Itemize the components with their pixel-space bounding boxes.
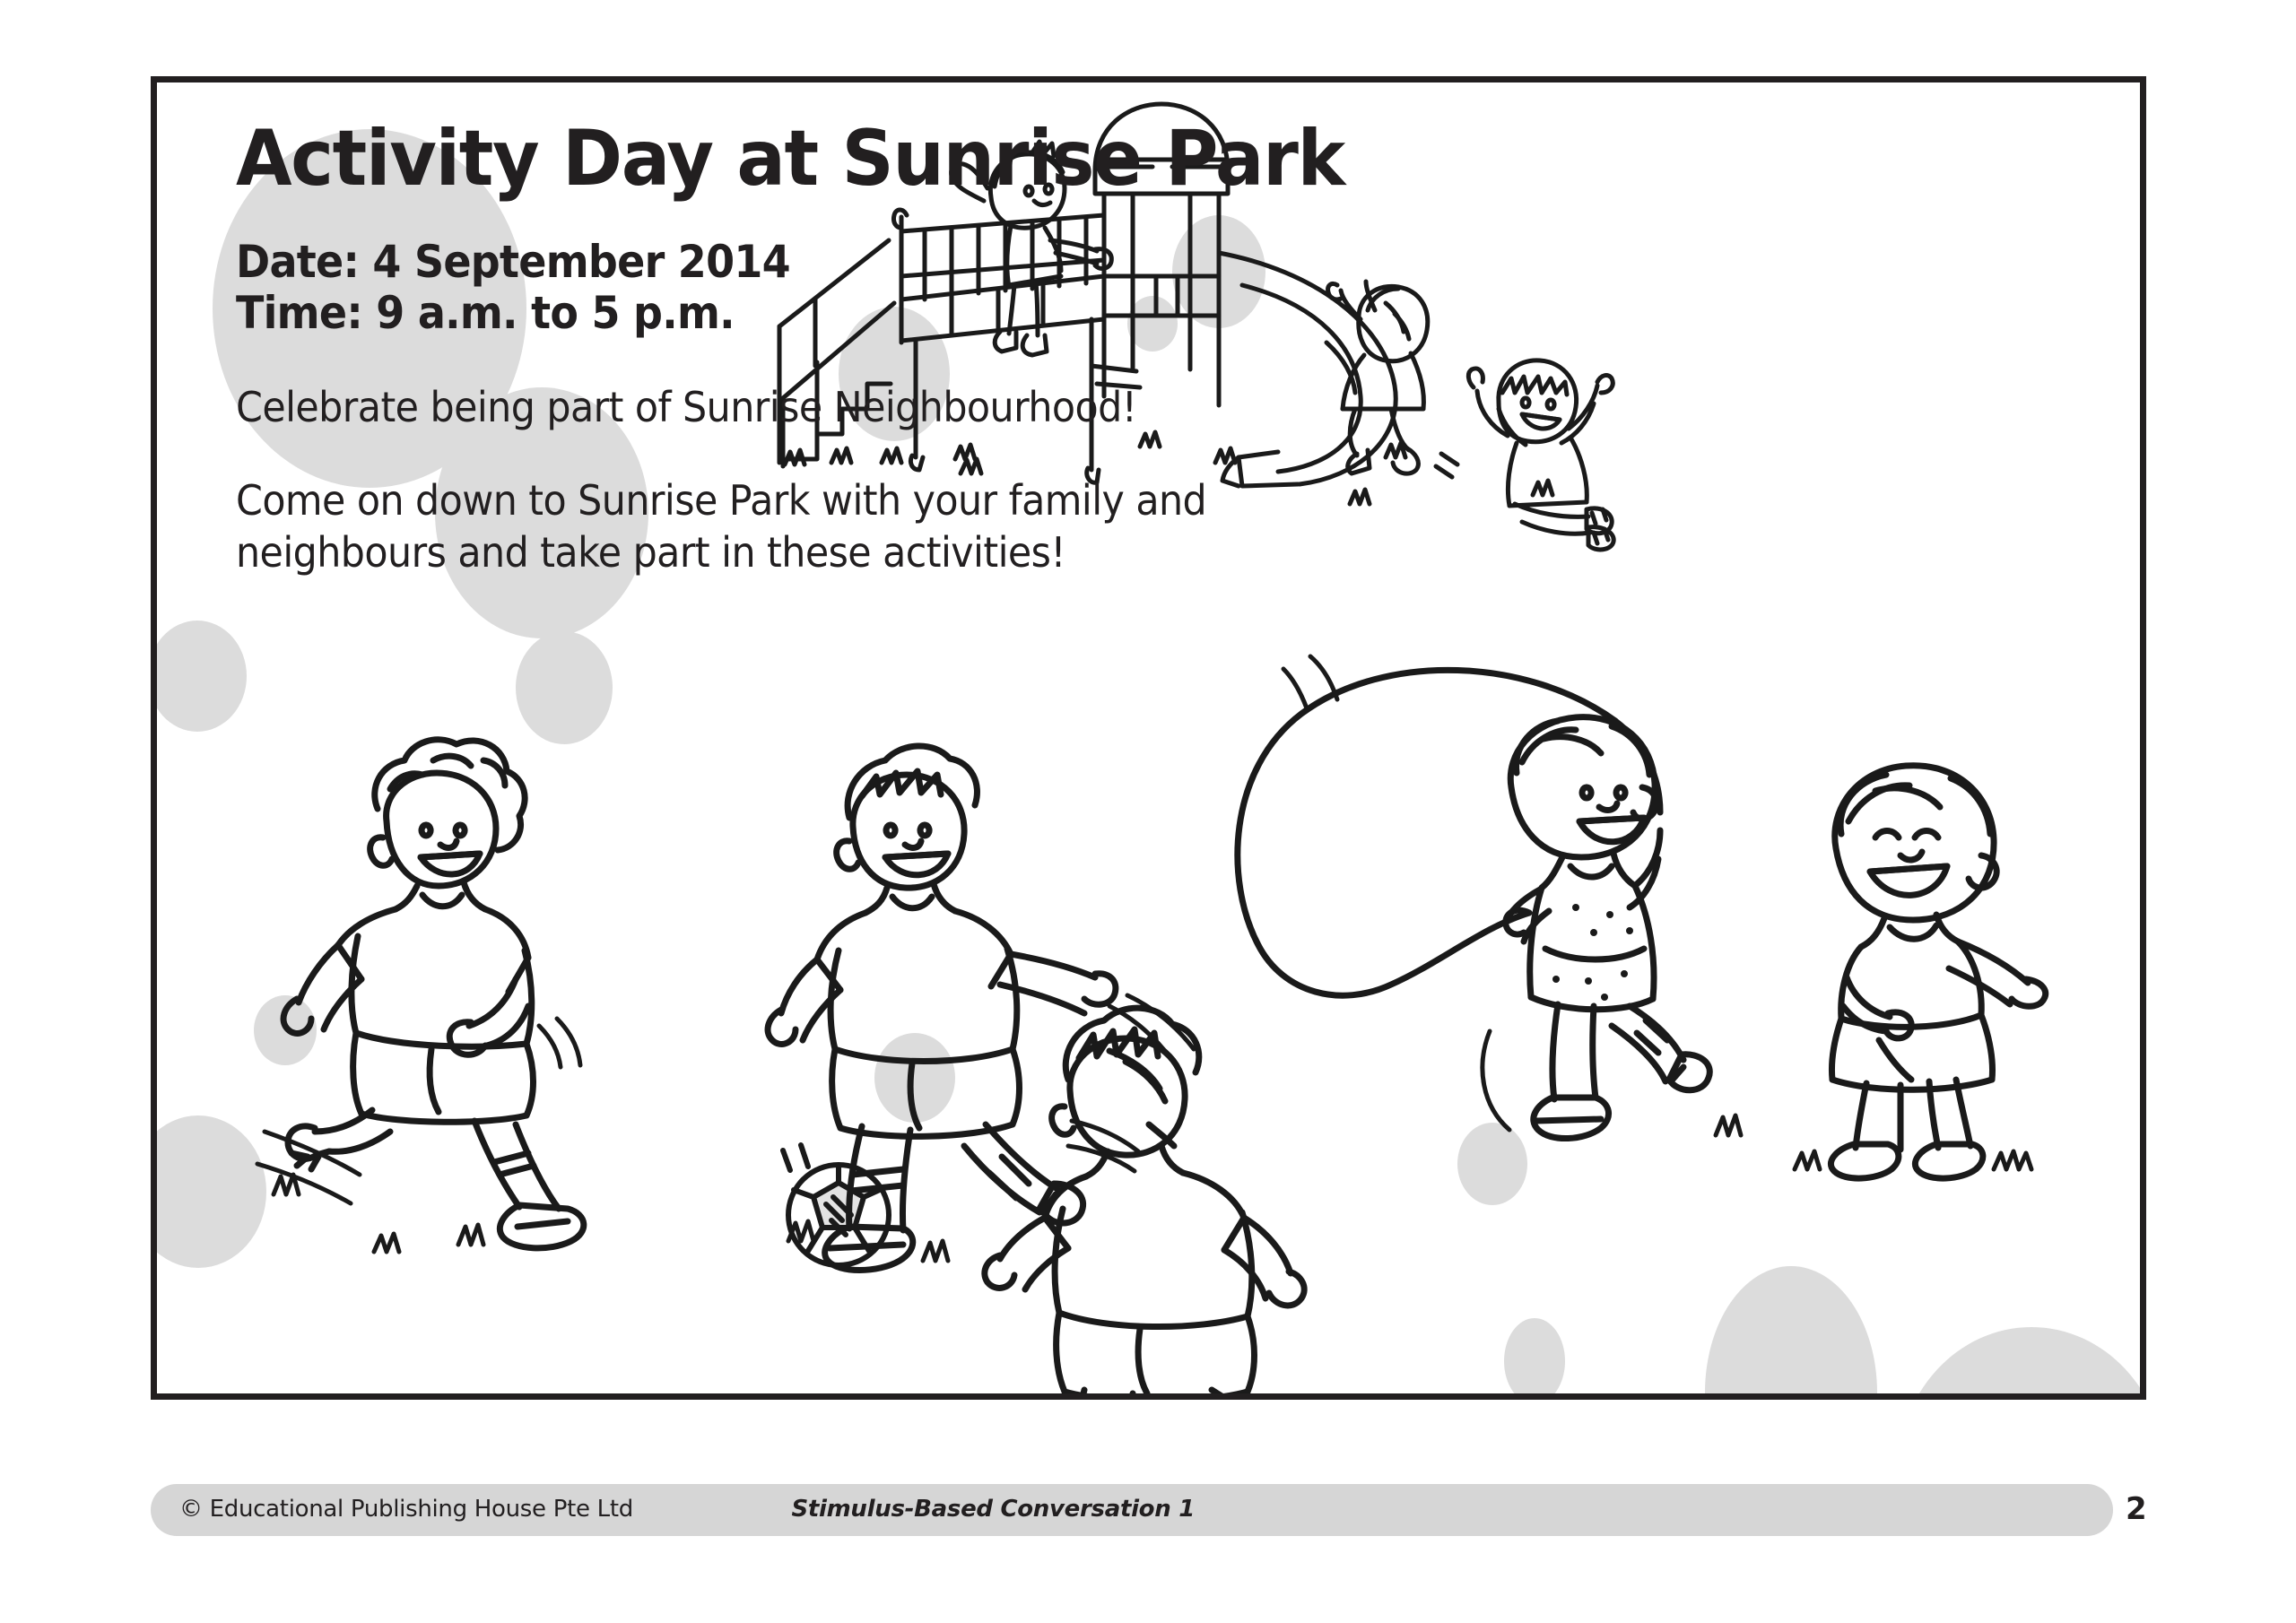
series-title: Stimulus-Based Conversation 1 <box>791 1496 1195 1523</box>
body-paragraph-2-line-2: neighbours and take part in these activi… <box>236 527 1404 579</box>
runner-left-illustration <box>256 710 650 1266</box>
poster-frame: Activity Day at Sunrise Park Date: 4 Sep… <box>151 76 2146 1400</box>
page-number: 2 <box>2126 1491 2147 1527</box>
page-title: Activity Day at Sunrise Park <box>236 120 1416 199</box>
decorative-circle-bottom-right-large <box>1897 1327 2146 1400</box>
body-paragraph-2-line-1: Come on down to Sunrise Park with your f… <box>236 475 1404 527</box>
decorative-circle-left-mid <box>151 621 247 732</box>
body-paragraph-1: Celebrate being part of Sunrise Neighbou… <box>236 382 1404 434</box>
body-paragraph-2: Come on down to Sunrise Park with your f… <box>236 475 1404 579</box>
standing-girl-illustration <box>1780 728 2146 1176</box>
skipping-girl-illustration <box>1224 612 1780 1185</box>
decorative-circle-bottom-right-mid <box>1705 1266 1877 1400</box>
event-date: Date: 4 September 2014 <box>236 237 1391 288</box>
copyright-notice: © Educational Publishing House Pte Ltd <box>179 1496 633 1523</box>
decorative-circle-right-low-tiny <box>1504 1318 1565 1400</box>
decorative-circle-left-lower <box>151 1115 266 1268</box>
event-details: Date: 4 September 2014 Time: 9 a.m. to 5… <box>236 237 1492 339</box>
poster-text-block: Activity Day at Sunrise Park Date: 4 Sep… <box>236 120 1492 579</box>
page-footer: © Educational Publishing House Pte Ltd S… <box>0 1484 2296 1543</box>
event-time: Time: 9 a.m. to 5 p.m. <box>236 288 1391 339</box>
footer-bar-right <box>1252 1484 2113 1536</box>
